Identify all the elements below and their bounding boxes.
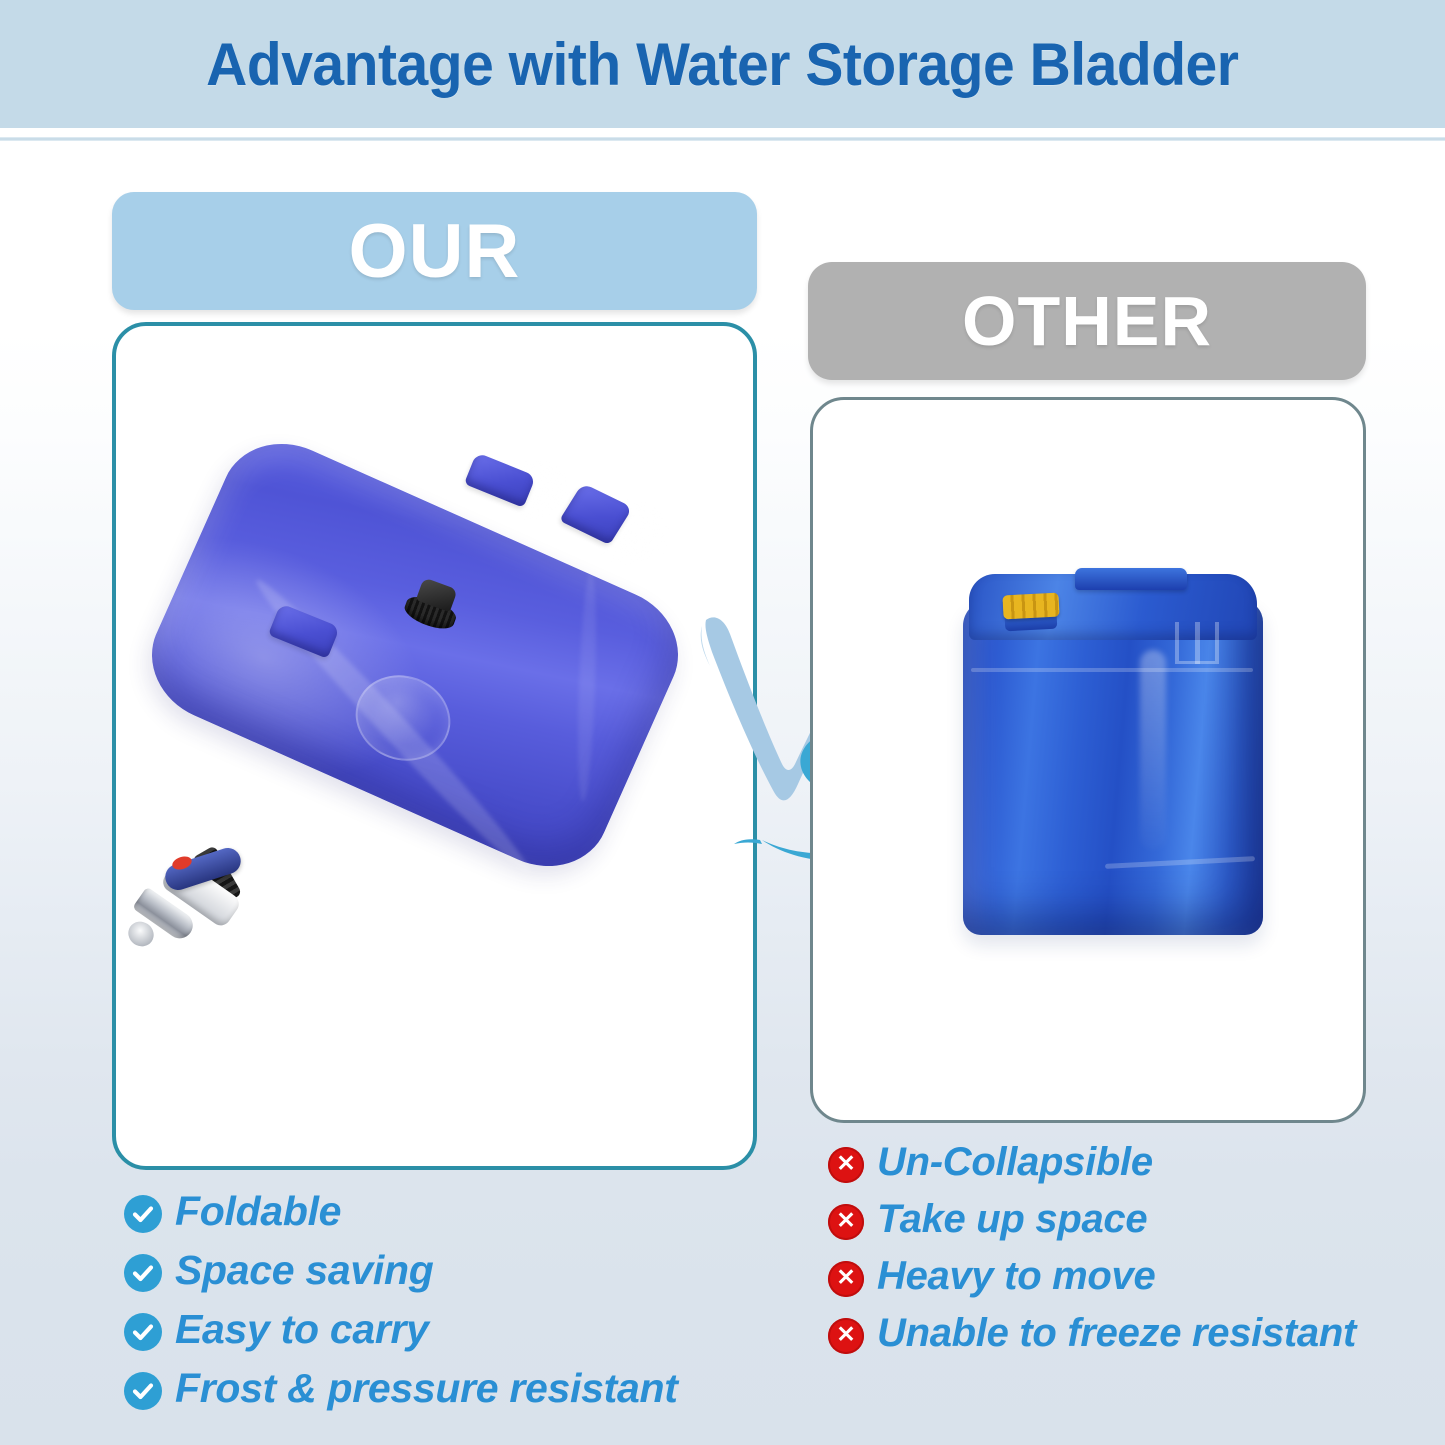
other-badge: OTHER xyxy=(808,262,1366,380)
feature-label: Easy to carry xyxy=(175,1306,429,1353)
x-icon: ✕ xyxy=(828,1147,864,1183)
list-item: ✕ Take up space xyxy=(828,1197,1356,1242)
x-glyph: ✕ xyxy=(836,1152,855,1175)
water-storage-bladder-image xyxy=(150,440,730,1000)
jerrycan-handle xyxy=(1075,568,1187,590)
bladder-seam xyxy=(575,571,599,801)
list-item: ✕ Unable to freeze resistant xyxy=(828,1311,1356,1356)
jerrycan-highlight xyxy=(1140,650,1166,850)
feature-label: Foldable xyxy=(175,1188,341,1235)
check-icon xyxy=(124,1372,162,1410)
feature-label: Frost & pressure resistant xyxy=(175,1365,678,1412)
header-divider xyxy=(0,137,1445,141)
x-icon: ✕ xyxy=(828,1318,864,1354)
feature-label: Un-Collapsible xyxy=(877,1140,1153,1185)
x-glyph: ✕ xyxy=(836,1209,855,1232)
x-glyph: ✕ xyxy=(836,1266,855,1289)
check-icon xyxy=(124,1254,162,1292)
list-item: Foldable xyxy=(124,1188,678,1235)
x-icon: ✕ xyxy=(828,1204,864,1240)
bladder-valve-spigot xyxy=(128,840,278,980)
our-badge: OUR xyxy=(112,192,757,310)
jerrycan-embossed-mark xyxy=(1175,622,1219,664)
list-item: Space saving xyxy=(124,1247,678,1294)
other-feature-list: ✕ Un-Collapsible ✕ Take up space ✕ Heavy… xyxy=(828,1140,1356,1356)
jerrycan-seam xyxy=(971,668,1253,672)
rigid-plastic-jerrycan-image xyxy=(955,560,1275,940)
list-item: Frost & pressure resistant xyxy=(124,1365,678,1412)
check-icon xyxy=(124,1195,162,1233)
header-banner: Advantage with Water Storage Bladder xyxy=(0,0,1445,128)
bladder-body xyxy=(132,423,698,887)
jerrycan-yellow-cap xyxy=(1002,593,1059,620)
feature-label: Heavy to move xyxy=(877,1254,1155,1299)
feature-label: Space saving xyxy=(175,1247,433,1294)
our-feature-list: Foldable Space saving Easy to carry Fros… xyxy=(124,1188,678,1412)
check-icon xyxy=(124,1313,162,1351)
list-item: ✕ Heavy to move xyxy=(828,1254,1356,1299)
feature-label: Unable to freeze resistant xyxy=(877,1311,1356,1356)
page-title: Advantage with Water Storage Bladder xyxy=(206,30,1238,99)
our-badge-label: OUR xyxy=(349,208,521,295)
list-item: Easy to carry xyxy=(124,1306,678,1353)
list-item: ✕ Un-Collapsible xyxy=(828,1140,1356,1185)
x-glyph: ✕ xyxy=(836,1323,855,1346)
infographic-page: Advantage with Water Storage Bladder OUR… xyxy=(0,0,1445,1445)
x-icon: ✕ xyxy=(828,1261,864,1297)
other-badge-label: OTHER xyxy=(962,281,1212,361)
feature-label: Take up space xyxy=(877,1197,1147,1242)
